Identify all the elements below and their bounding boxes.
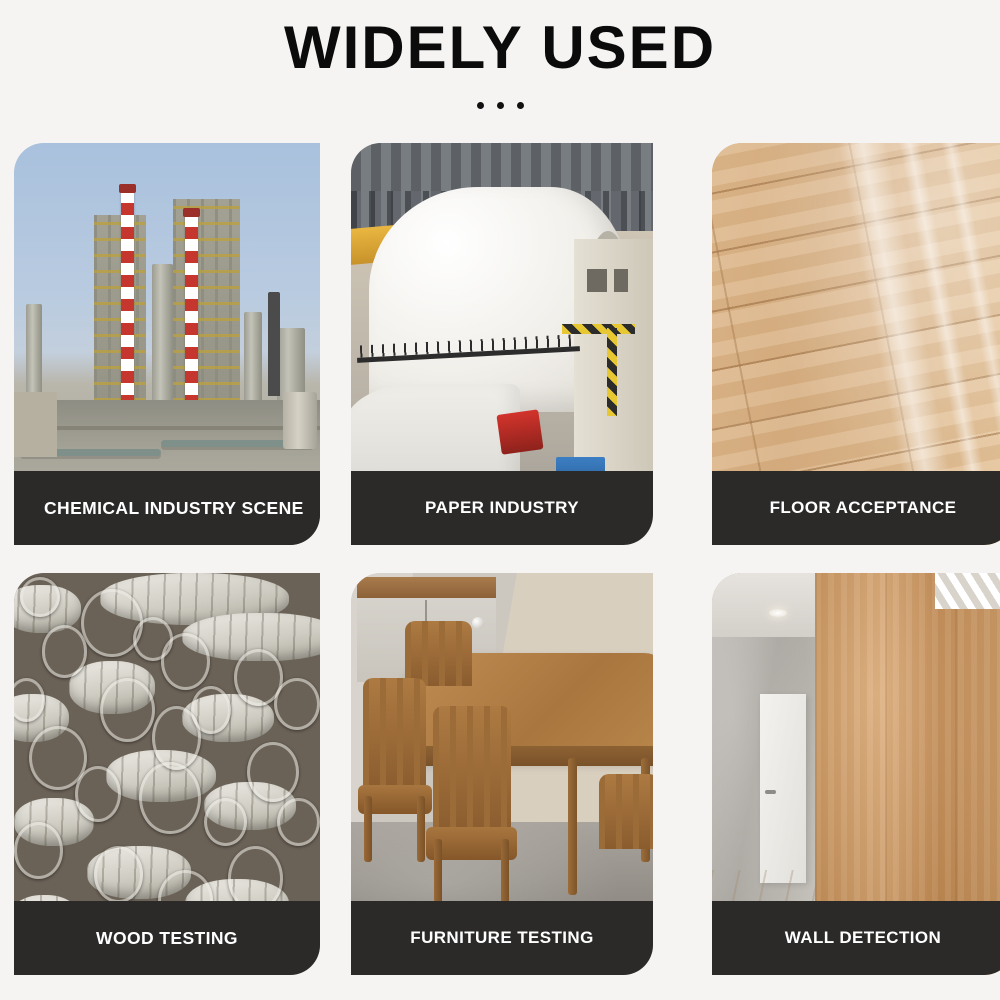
card-label-bar-1: CHEMICAL INDUSTRY SCENE (14, 471, 320, 545)
dot-icon (497, 102, 504, 109)
card-furniture-testing[interactable]: FURNITURE TESTING (351, 573, 653, 975)
card-paper-industry[interactable]: PAPER INDUSTRY (351, 143, 653, 545)
page-title: WIDELY USED (0, 18, 1000, 78)
card-label-text: WOOD TESTING (96, 928, 238, 949)
card-label-bar-3: FLOOR ACCEPTANCE (712, 471, 1000, 545)
header: WIDELY USED (0, 0, 1000, 109)
card-label-bar-6: WALL DETECTION (712, 901, 1000, 975)
card-label-text: CHEMICAL INDUSTRY SCENE (44, 498, 304, 519)
card-floor-acceptance[interactable]: FLOOR ACCEPTANCE (712, 143, 1000, 545)
card-label-bar-4: WOOD TESTING (14, 901, 320, 975)
card-wood-testing[interactable]: WOOD TESTING (14, 573, 320, 975)
card-chemical-industry-scene[interactable]: CHEMICAL INDUSTRY SCENE (14, 143, 320, 545)
card-label-text: PAPER INDUSTRY (425, 498, 579, 518)
decorative-dots (0, 102, 1000, 109)
card-wall-detection[interactable]: WALL DETECTION (712, 573, 1000, 975)
card-label-bar-5: FURNITURE TESTING (351, 901, 653, 975)
dot-icon (517, 102, 524, 109)
card-label-bar-2: PAPER INDUSTRY (351, 471, 653, 545)
card-label-text: WALL DETECTION (785, 928, 941, 948)
card-label-text: FURNITURE TESTING (410, 928, 593, 948)
application-card-grid: CHEMICAL INDUSTRY SCENE (14, 143, 986, 975)
card-label-text: FLOOR ACCEPTANCE (770, 498, 957, 518)
widely-used-banner: WIDELY USED (0, 0, 1000, 1000)
dot-icon (477, 102, 484, 109)
